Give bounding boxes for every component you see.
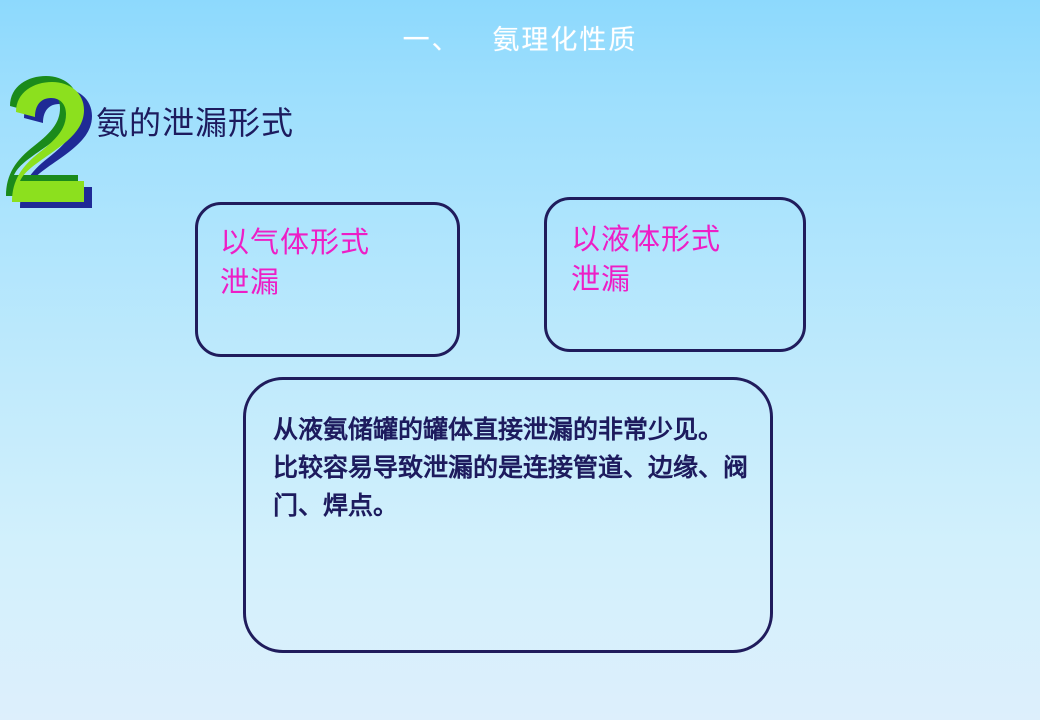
numeral-two-3d-icon: [2, 72, 106, 212]
callout-label-gas: 以气体形式 泄漏: [220, 222, 370, 302]
slide-canvas: 一、 氨理化性质 氨的泄漏形式 以气体形式 泄漏 以液体形式 泄漏 从液氨储罐的…: [0, 0, 1040, 720]
callout-box-gas[interactable]: 以气体形式 泄漏: [195, 202, 460, 357]
callout-box-liquid[interactable]: 以液体形式 泄漏: [544, 197, 806, 352]
page-title: 一、 氨理化性质: [0, 24, 1040, 58]
numeral-two-badge: [2, 72, 106, 212]
callout-label-liquid: 以液体形式 泄漏: [571, 219, 721, 299]
callout-box-detail[interactable]: 从液氨储罐的罐体直接泄漏的非常少见。 比较容易导致泄漏的是连接管道、边缘、阀门、…: [243, 377, 773, 653]
detail-description-text: 从液氨储罐的罐体直接泄漏的非常少见。 比较容易导致泄漏的是连接管道、边缘、阀门、…: [273, 411, 756, 525]
section-heading: 氨的泄漏形式: [96, 103, 294, 143]
